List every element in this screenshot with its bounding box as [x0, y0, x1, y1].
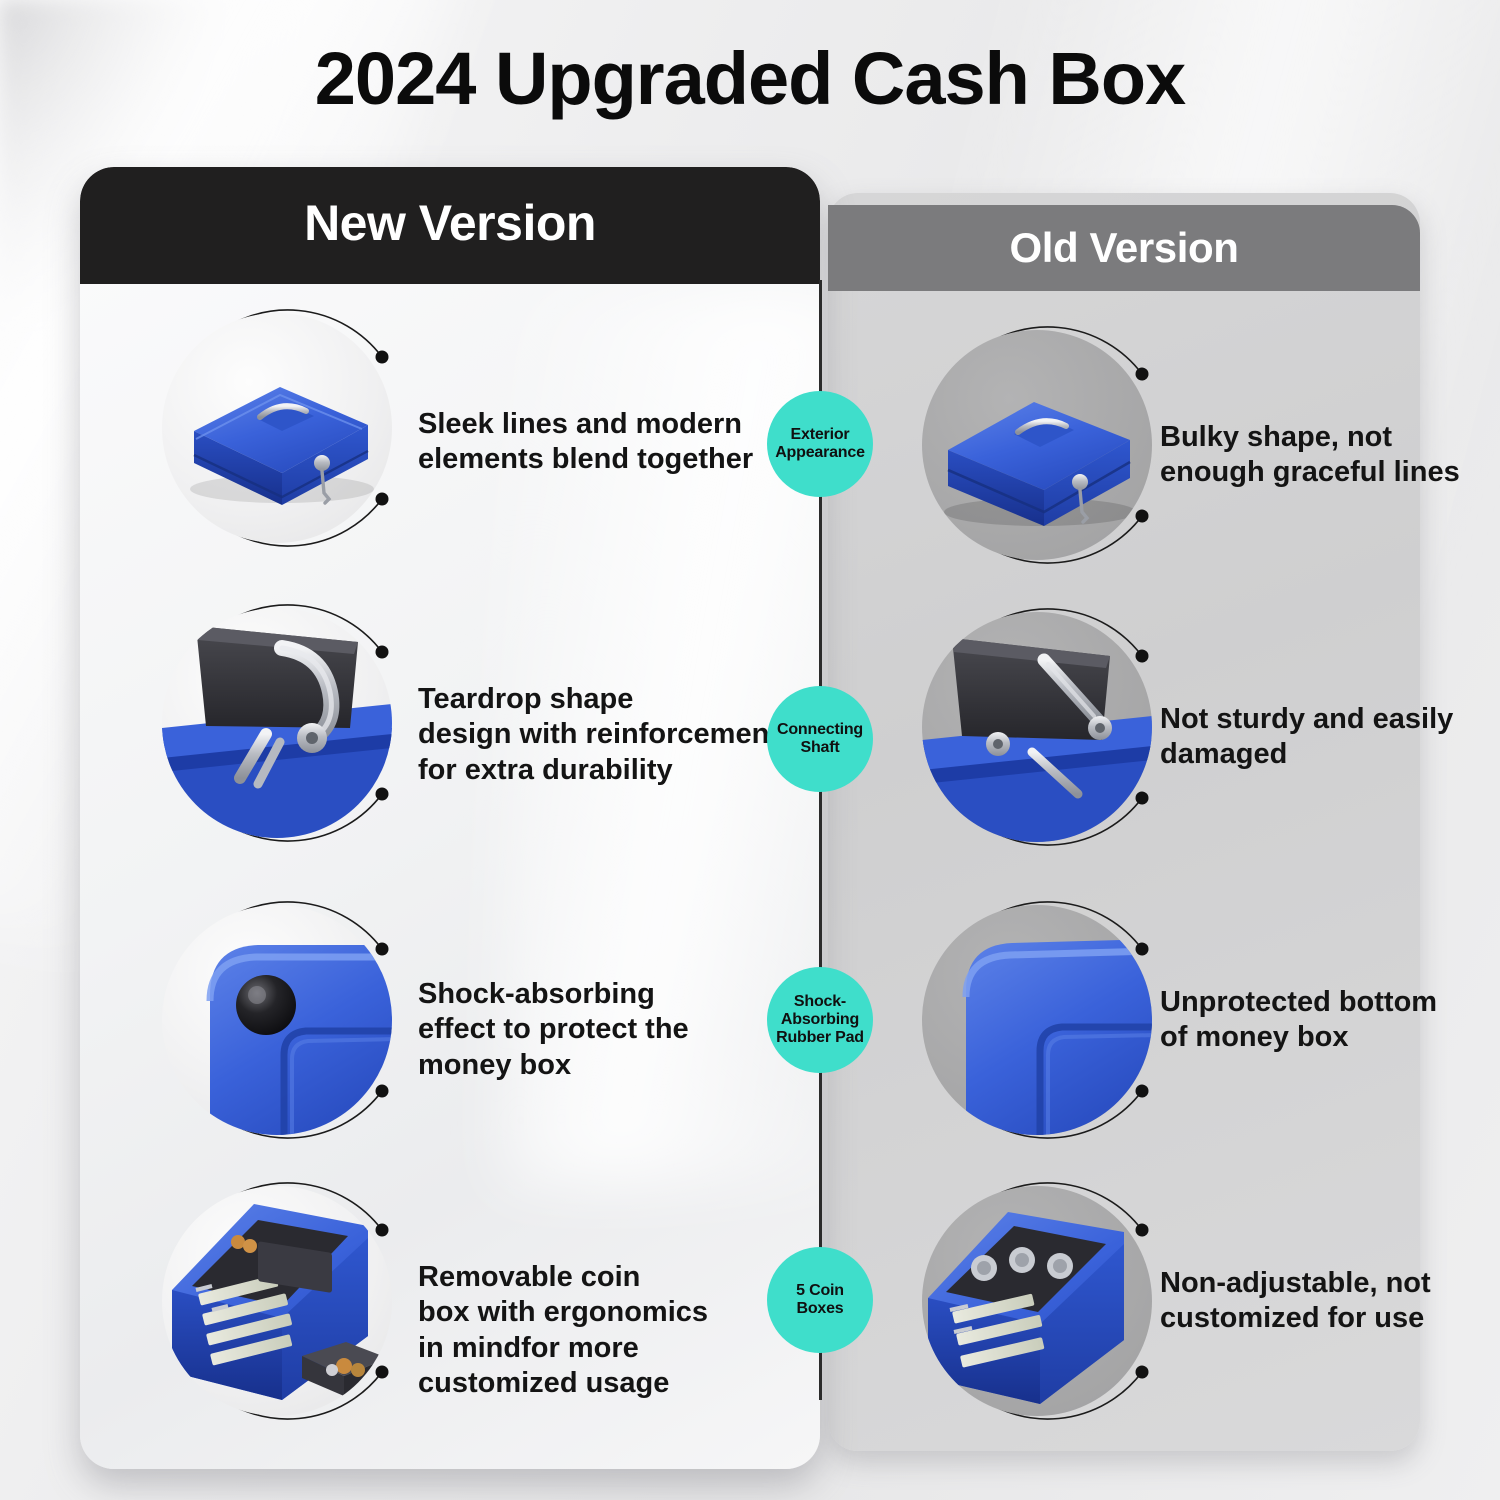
category-badge-coin-boxes[interactable]: 5 Coin Boxes — [767, 1247, 873, 1353]
new-feature-text-1: Sleek lines and modern elements blend to… — [418, 407, 753, 478]
product-photo-new-exterior — [162, 313, 392, 543]
category-badge-label: Connecting Shaft — [777, 721, 863, 757]
page-title: 2024 Upgraded Cash Box — [0, 36, 1500, 121]
product-photo-new-rubber-pad — [162, 905, 392, 1135]
old-feature-text-2: Not sturdy and easily damaged — [1160, 702, 1453, 773]
old-feature-text-1: Bulky shape, not enough graceful lines — [1160, 420, 1460, 491]
new-feature-text-2: Teardrop shape design with reinforcement… — [418, 682, 779, 788]
old-feature-text-3: Unprotected bottom of money box — [1160, 985, 1437, 1056]
new-feature-text-4: Removable coin box with ergonomics in mi… — [418, 1260, 708, 1402]
new-version-header: New Version — [80, 167, 820, 284]
category-badge-label: Shock- Absorbing Rubber Pad — [776, 993, 864, 1048]
category-badge-label: 5 Coin Boxes — [796, 1282, 844, 1318]
old-feature-text-4: Non-adjustable, not customized for use — [1160, 1266, 1431, 1337]
product-photo-old-exterior — [922, 330, 1152, 560]
product-photo-new-shaft — [162, 608, 392, 838]
old-version-label: Old Version — [1010, 224, 1239, 272]
product-photo-old-coin-tray — [922, 1186, 1152, 1416]
product-photo-old-bare-corner — [922, 905, 1152, 1135]
new-feature-text-3: Shock-absorbing effect to protect the mo… — [418, 977, 689, 1083]
new-version-label: New Version — [304, 194, 596, 258]
category-badge-connecting-shaft[interactable]: Connecting Shaft — [767, 686, 873, 792]
product-photo-new-coin-tray — [162, 1186, 392, 1416]
product-photo-old-shaft — [922, 612, 1152, 842]
category-badge-label: Exterior Appearance — [775, 426, 865, 462]
category-badge-exterior-appearance[interactable]: Exterior Appearance — [767, 391, 873, 497]
old-version-header: Old Version — [828, 205, 1420, 291]
category-badge-shock-absorbing-rubber-pad[interactable]: Shock- Absorbing Rubber Pad — [767, 967, 873, 1073]
